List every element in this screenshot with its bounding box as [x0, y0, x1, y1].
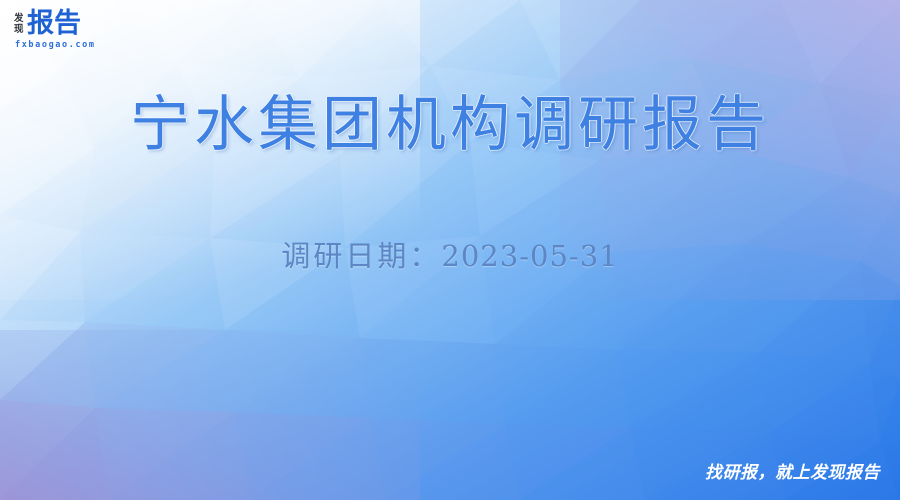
logo-mark-char-bottom: 现	[14, 24, 23, 35]
page-title: 宁水集团机构调研报告	[0, 88, 900, 162]
logo-wordmark-row: 发 现 报告	[14, 10, 81, 37]
survey-date-value: 2023-05-31	[441, 239, 618, 273]
logo-url-text: fxbaogao.com	[15, 40, 96, 50]
logo-mark-char-top: 发	[14, 13, 23, 24]
site-logo[interactable]: 发 现 报告 fxbaogao.com	[14, 10, 96, 50]
survey-date-line: 调研日期：2023-05-31	[0, 236, 900, 276]
logo-wordmark-text: 报告	[27, 10, 81, 37]
slogan-watermark: 找研报，就上发现报告	[705, 463, 880, 484]
survey-date-label: 调研日期：	[281, 239, 441, 273]
logo-mark-fxian: 发 现	[14, 13, 23, 37]
title-slide: 发 现 报告 fxbaogao.com 宁水集团机构调研报告 调研日期：2023…	[0, 0, 900, 500]
